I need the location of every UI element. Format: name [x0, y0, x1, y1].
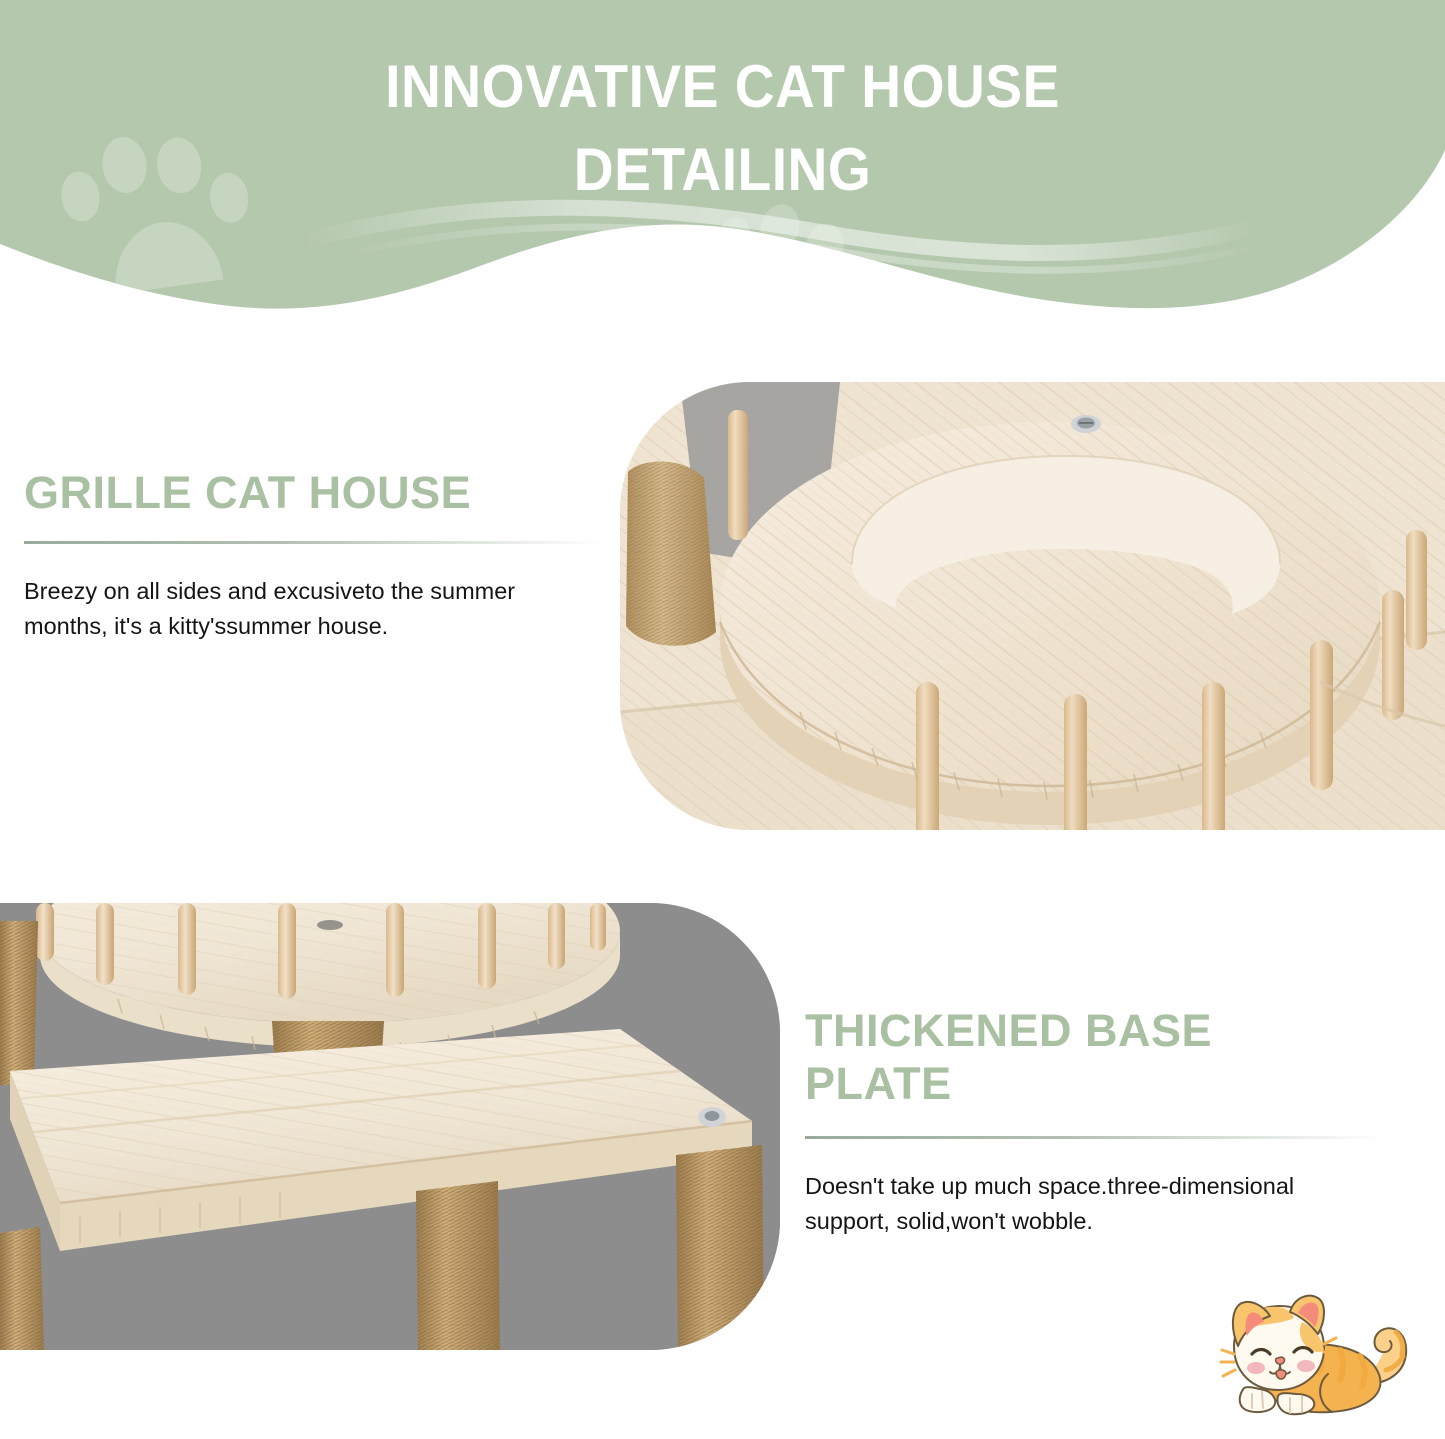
header-banner: INNOVATIVE CAT HOUSE DETAILING: [0, 0, 1445, 310]
section-divider: [805, 1136, 1385, 1139]
cat-mascot-illustration: [1190, 1288, 1430, 1428]
section-divider: [24, 541, 604, 544]
orange-tabby-cat-icon: [1190, 1288, 1430, 1428]
screw-detail: [1071, 415, 1101, 433]
page-title: INNOVATIVE CAT HOUSE DETAILING: [58, 46, 1387, 212]
grille-photo-graphic: [620, 382, 1445, 830]
section-body: Breezy on all sides and excusiveto the s…: [24, 574, 604, 645]
grille-cat-house-photo: [620, 382, 1445, 830]
section-heading: GRILLE CAT HOUSE: [24, 466, 604, 519]
section-body: Doesn't take up much space.three-dimensi…: [805, 1169, 1385, 1240]
base-plate-photo-graphic: [0, 903, 780, 1350]
section-grille-cat-house: GRILLE CAT HOUSE Breezy on all sides and…: [24, 466, 604, 645]
section-heading: THICKENED BASE PLATE: [805, 1004, 1385, 1110]
thickened-base-plate-photo: [0, 903, 780, 1350]
section-thickened-base-plate: THICKENED BASE PLATE Doesn't take up muc…: [805, 1004, 1385, 1240]
screw-detail: [698, 1107, 726, 1127]
